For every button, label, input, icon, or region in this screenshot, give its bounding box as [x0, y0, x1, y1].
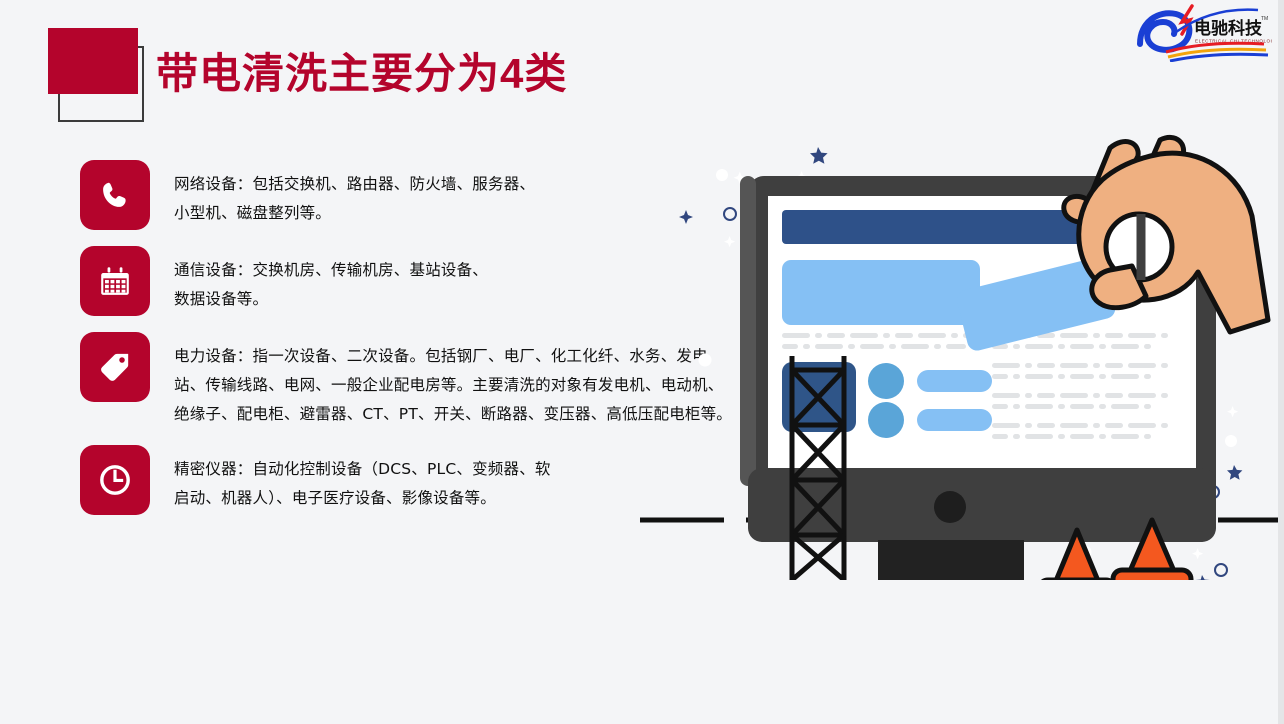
list-item-line: 启动、机器人）、电子医疗设备、影像设备等。 [174, 484, 551, 513]
list-item-line: 网络设备：包括交换机、路由器、防火墙、服务器、 [174, 170, 535, 199]
tag-icon [80, 332, 150, 402]
list-item-line: 小型机、磁盘整列等。 [174, 199, 535, 228]
calendar-icon [80, 246, 150, 316]
list-item-text: 网络设备：包括交换机、路由器、防火墙、服务器、 小型机、磁盘整列等。 [174, 160, 535, 228]
list-item-text: 通信设备：交换机房、传输机房、基站设备、 数据设备等。 [174, 246, 488, 314]
list-item-line: 精密仪器：自动化控制设备（DCS、PLC、变频器、软 [174, 455, 551, 484]
monitor-webpage-hand-illustration [640, 120, 1284, 580]
list-item-line: 数据设备等。 [174, 285, 488, 314]
clock-icon [80, 445, 150, 515]
accent-circle [868, 363, 904, 399]
svg-text:TM: TM [1261, 16, 1268, 22]
list-item-line: 通信设备：交换机房、传输机房、基站设备、 [174, 256, 488, 285]
monitor-stand [878, 540, 1024, 580]
accent-circle [868, 402, 904, 438]
page-title: 带电清洗主要分为4类 [156, 40, 567, 101]
phone-icon [80, 160, 150, 230]
list-item-text: 精密仪器：自动化控制设备（DCS、PLC、变频器、软 启动、机器人）、电子医疗设… [174, 445, 551, 513]
company-logo: 电驰科技 ELECTRICAL CHI TECHNOLOGY TM [1132, 0, 1272, 62]
svg-text:电驰科技: 电驰科技 [1194, 18, 1263, 39]
title-accent-square [48, 28, 138, 94]
logo-mark-icon: 电驰科技 ELECTRICAL CHI TECHNOLOGY TM [1132, 0, 1272, 62]
slide-root: 电驰科技 ELECTRICAL CHI TECHNOLOGY TM 带电清洗主要… [0, 0, 1284, 724]
